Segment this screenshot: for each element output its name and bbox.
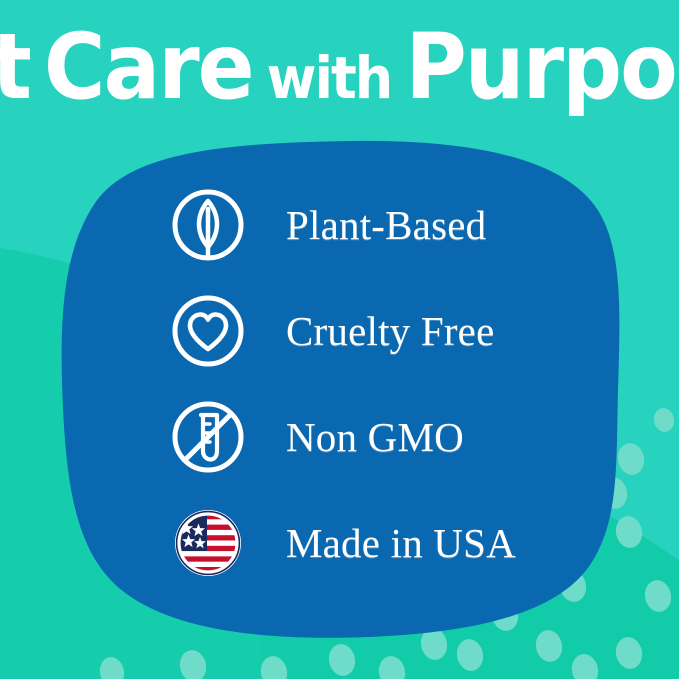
- claim-label-plant-based: Plant-Based: [286, 205, 486, 246]
- headline-word-care: Care: [44, 16, 253, 116]
- pet-care-with-purpose-graphic: PetCarewithPurpose® Plant-Based: [0, 0, 679, 679]
- claim-label-non-gmo: Non GMO: [286, 417, 464, 458]
- claim-row-non-gmo: Non GMO: [168, 384, 598, 490]
- claim-row-cruelty-free: Cruelty Free: [168, 278, 598, 384]
- claim-label-cruelty-free: Cruelty Free: [286, 311, 494, 352]
- claim-row-made-in-usa: Made in USA: [168, 490, 598, 596]
- claims-list: Plant-Based Cruelty Free: [168, 172, 598, 596]
- leaf-in-circle-icon: [168, 185, 248, 265]
- usa-flag-circle-icon: [168, 503, 248, 583]
- heart-in-circle-icon: [168, 291, 248, 371]
- headline-word-pet: Pet: [0, 16, 30, 116]
- page-title: PetCarewithPurpose®: [0, 16, 679, 116]
- headline-word-with: with: [267, 45, 392, 112]
- claim-row-plant-based: Plant-Based: [168, 172, 598, 278]
- headline-word-purpose: Purpose: [405, 16, 679, 116]
- no-test-tube-icon: [168, 397, 248, 477]
- svg-text:PetCarewithPurpose®: PetCarewithPurpose®: [0, 16, 679, 116]
- claim-label-made-in-usa: Made in USA: [286, 523, 516, 564]
